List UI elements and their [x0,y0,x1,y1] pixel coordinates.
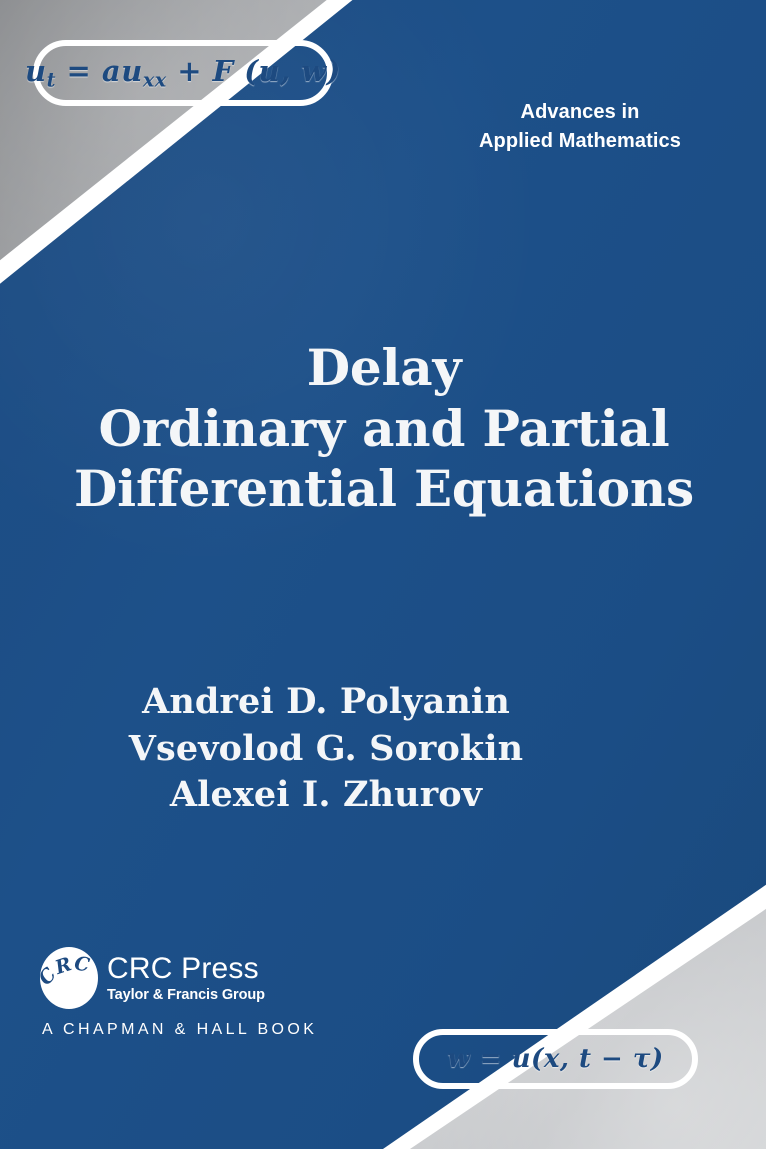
series-title-line-2: Applied Mathematics [430,127,730,156]
book-cover: ut = auxx + F (u, w) Advances in Applied… [0,0,766,1149]
publisher-name: CRC Press [107,954,265,984]
formula-badge-bottom: w = u(x, t − τ) [413,1029,698,1089]
formula-bottom-text: w = u(x, t − τ) [447,1044,663,1074]
svg-text:CRC: CRC [40,952,92,989]
imprint-line: A CHAPMAN & HALL BOOK [42,1021,340,1039]
title-line-3: Differential Equations [34,459,734,520]
author-name: Andrei D. Polyanin [26,679,626,726]
publisher-group: Taylor & Francis Group [107,988,265,1003]
crc-monogram-icon: CRC [40,947,98,1009]
formula-badge-top: ut = auxx + F (u, w) [33,40,333,106]
title-line-2: Ordinary and Partial [34,399,734,460]
crc-wordmark: CRC Press Taylor & Francis Group [107,954,265,1003]
title-line-1: Delay [34,338,734,399]
page-title: Delay Ordinary and Partial Differential … [34,338,734,520]
crc-logo: CRC CRC Press Taylor & Francis Group [40,947,340,1009]
author-list: Andrei D. Polyanin Vsevolod G. Sorokin A… [26,679,626,819]
crc-roundel-icon: CRC [40,947,98,1009]
publisher-block: CRC CRC Press Taylor & Francis Group A C… [40,947,340,1039]
author-name: Alexei I. Zhurov [26,772,626,819]
formula-top-text: ut = auxx + F (u, w) [25,54,341,91]
series-title-line-1: Advances in [430,98,730,127]
author-name: Vsevolod G. Sorokin [26,726,626,773]
series-title: Advances in Applied Mathematics [430,98,730,156]
